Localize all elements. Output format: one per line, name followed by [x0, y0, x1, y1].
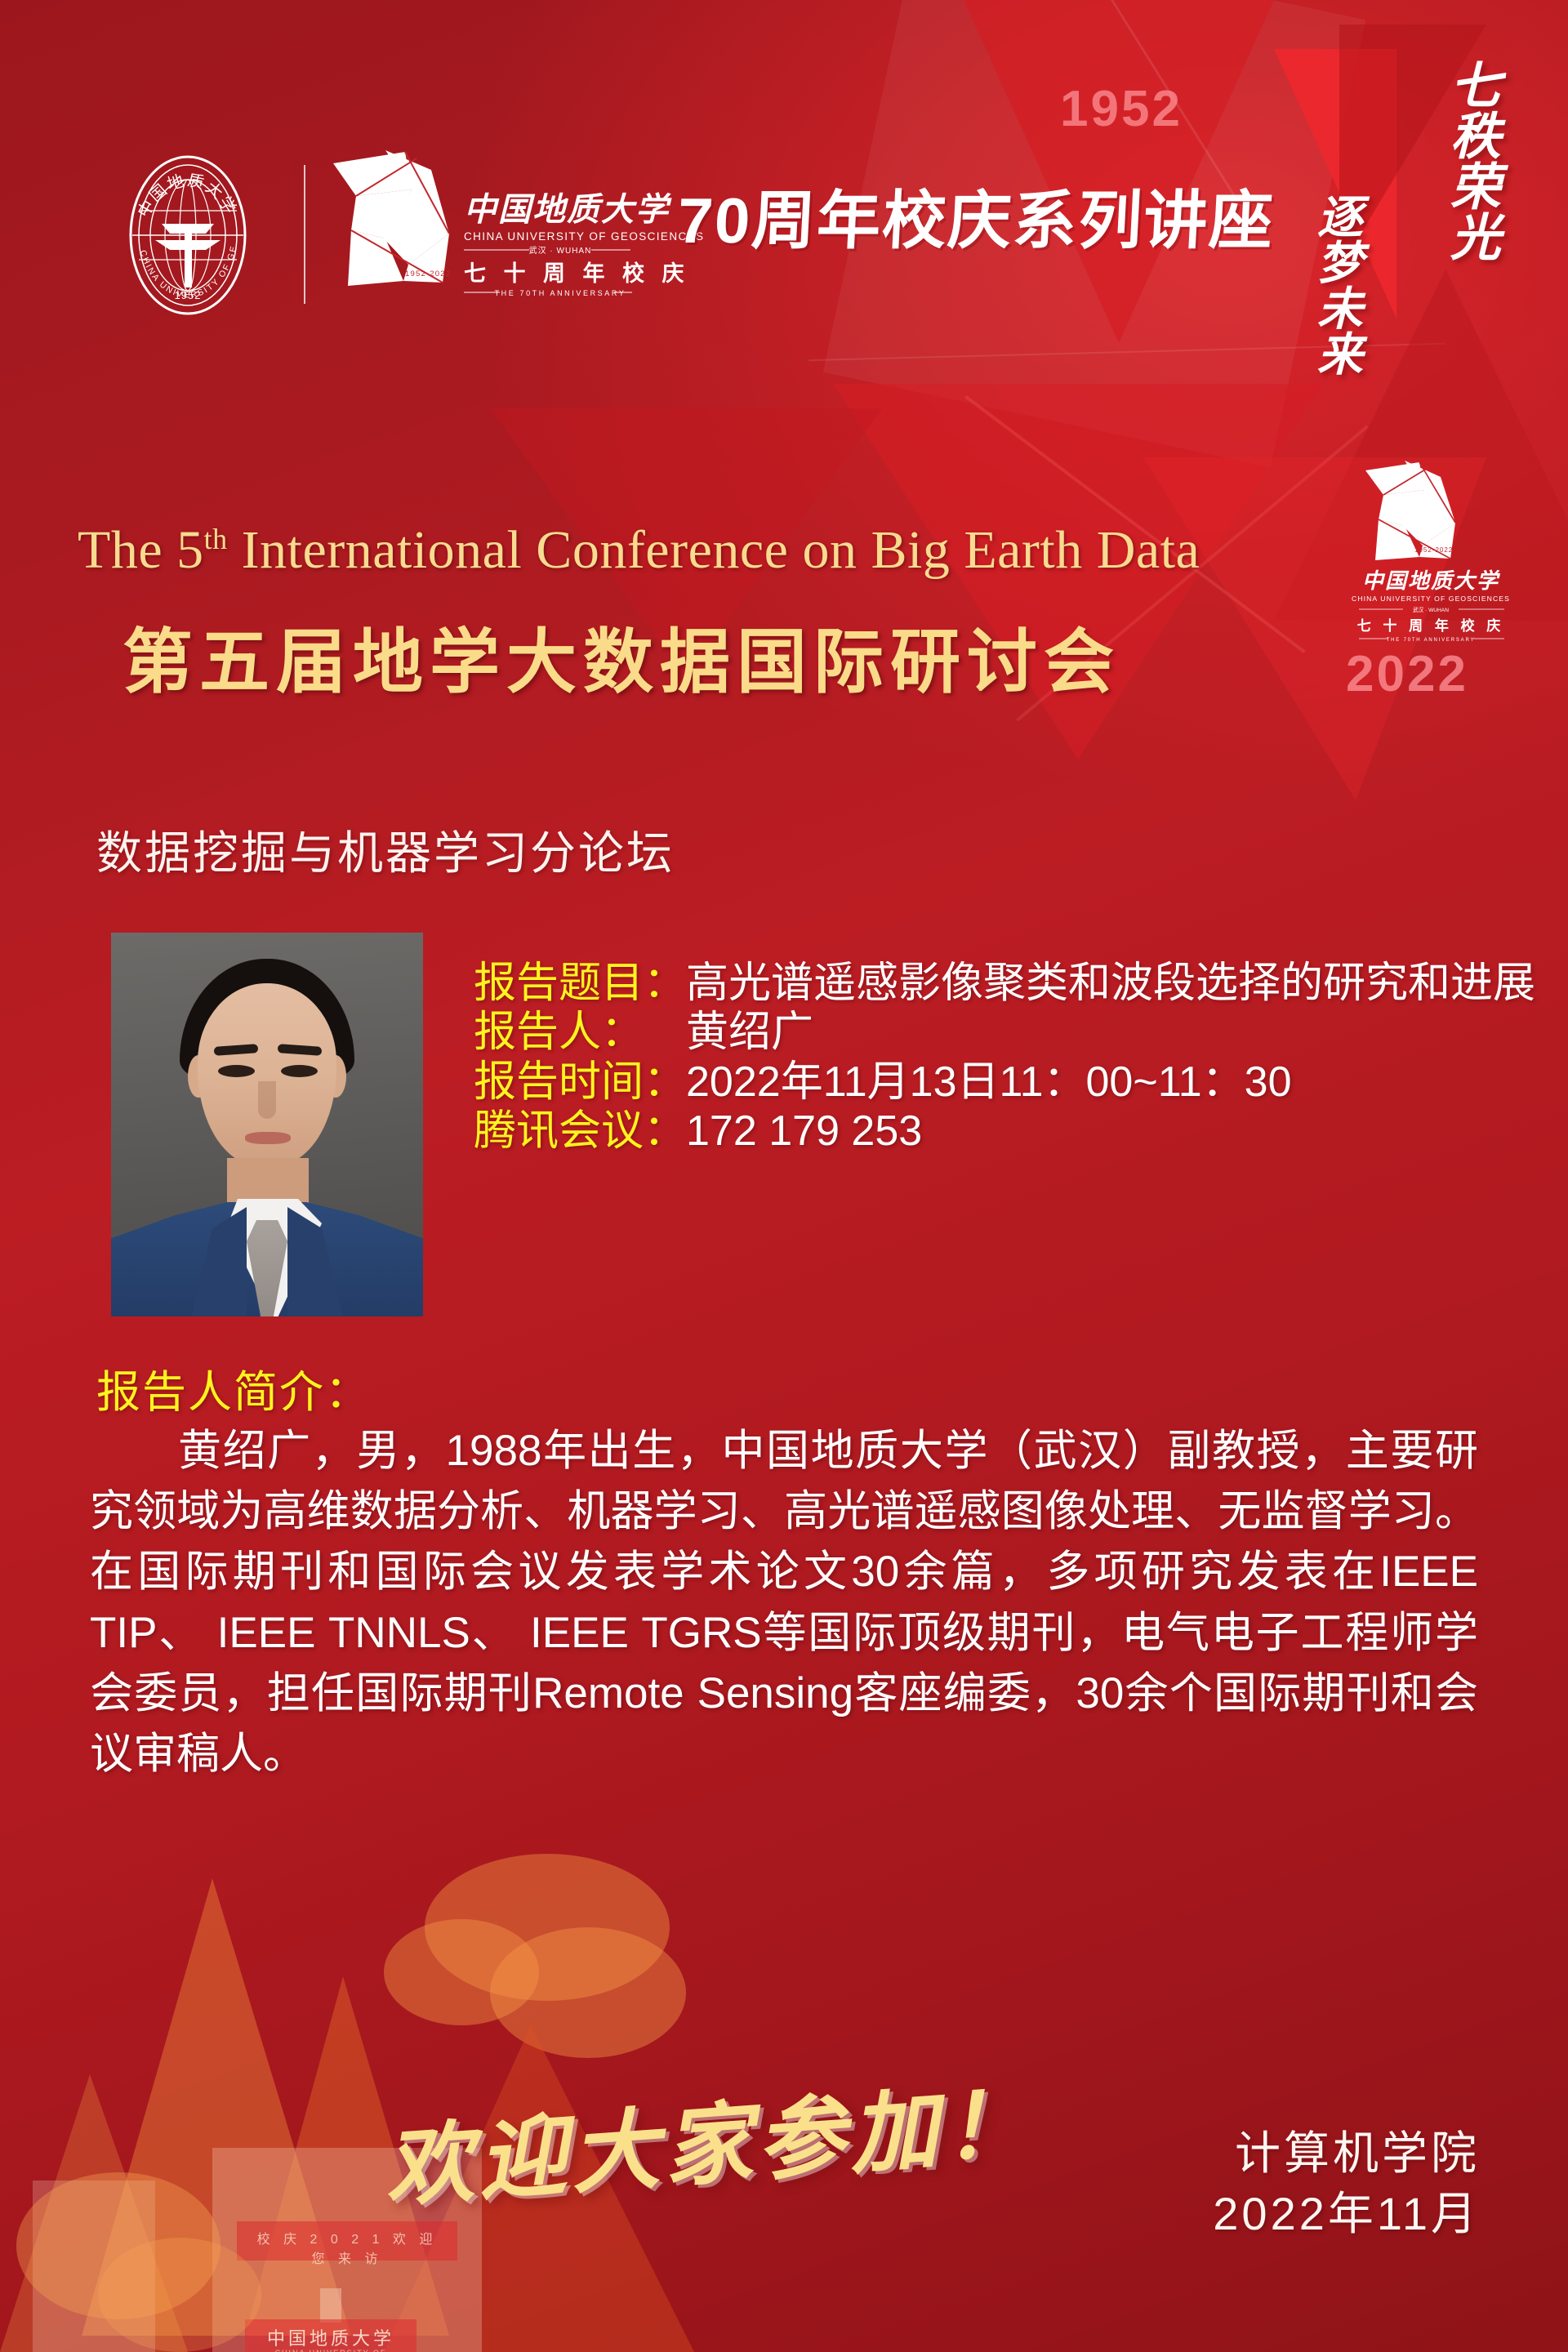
svg-text:1952-2022: 1952-2022: [1414, 546, 1453, 554]
bio-label: 报告人简介：: [96, 1356, 371, 1420]
cloud-motif: [98, 2238, 261, 2352]
svg-text:CHINA UNIVERSITY OF GEOSCIENCE: CHINA UNIVERSITY OF GEOSCIENCES: [464, 230, 704, 243]
svg-text:武汉 · WUHAN: 武汉 · WUHAN: [529, 245, 592, 256]
talk-speaker-label: 报告人：: [474, 1009, 644, 1056]
talk-topic-label: 报告题目：: [474, 960, 686, 1007]
anniversary-badge-icon: 1952-2022 中国地质大学 CHINA UNIVERSITY OF GEO…: [1344, 457, 1517, 645]
conference-title-cn: 第五届地学大数据国际研讨会: [122, 604, 1120, 706]
university-seal-icon: 1952 中国地质大学 CHINA UNIVERSITY OF GEOSCIEN…: [106, 154, 269, 317]
talk-time-value: 2022年11月13日11：00~11：30: [686, 1058, 1292, 1106]
svg-text:武汉 · WUHAN: 武汉 · WUHAN: [1413, 606, 1449, 613]
poster-footer: 计算机学院 2022年11月: [1213, 2123, 1480, 2244]
talk-meeting-label: 腾讯会议：: [474, 1107, 686, 1155]
svg-text:七 十 周 年 校 庆: 七 十 周 年 校 庆: [464, 261, 690, 286]
slogan-line-1: 七秩荣光: [1444, 59, 1498, 261]
talk-time-row: 报告时间：2022年11月13日11：00~11：30: [474, 1058, 1552, 1107]
conference-title-en-ordinal: th: [204, 523, 228, 555]
campus-gate-caption: 校 庆 2 0 2 1 欢 迎 您 来 访: [245, 2228, 449, 2267]
year-2022-label: 2022: [1346, 645, 1468, 703]
footer-organizer: 计算机学院: [1213, 2123, 1480, 2184]
talk-speaker-value: 黄绍广: [686, 1009, 813, 1056]
photo-mouth: [245, 1132, 291, 1144]
talk-topic-value: 高光谱遥感影像聚类和波段选择的研究和进展: [686, 960, 1535, 1007]
svg-text:THE 70TH ANNIVERSARY: THE 70TH ANNIVERSARY: [1387, 638, 1476, 643]
svg-text:七 十 周 年 校 庆: 七 十 周 年 校 庆: [1357, 617, 1505, 634]
slogan-line-2: 逐梦未来: [1312, 193, 1360, 376]
conference-title-en-prefix: The 5: [78, 520, 204, 580]
svg-text:CHINA UNIVERSITY OF GEOSCIENCE: CHINA UNIVERSITY OF GEOSCIENCES: [1352, 595, 1510, 603]
talk-topic-row: 报告题目：高光谱遥感影像聚类和波段选择的研究和进展: [474, 959, 1543, 1008]
talk-meeting-value: 172 179 253: [686, 1107, 922, 1155]
header-divider: [304, 165, 305, 304]
bio-text: 黄绍广，男，1988年出生，中国地质大学（武汉）副教授，主要研究领域为高维数据分…: [90, 1421, 1478, 1784]
talk-speaker-row: 报告人：黄绍广: [474, 1008, 1552, 1057]
forum-subtitle: 数据挖掘与机器学习分论坛: [96, 817, 675, 883]
svg-text:THE 70TH ANNIVERSARY: THE 70TH ANNIVERSARY: [495, 289, 626, 297]
gate-pillar-motif: [320, 2288, 341, 2323]
photo-eye: [218, 1065, 255, 1077]
speaker-photo: [111, 933, 423, 1316]
conference-title-en: The 5th International Conference on Big …: [78, 519, 1200, 581]
svg-text:中国地质大学: 中国地质大学: [464, 190, 672, 229]
campus-plaque-name-en: CHINA UNIVERSITY OF GEOSCIENCES: [245, 2349, 416, 2352]
poster-canvas: 1952 中国地质大学 CHINA UNIVERSITY OF GEOSCIEN…: [0, 0, 1568, 2352]
talk-time-label: 报告时间：: [474, 1058, 686, 1106]
anniversary-wordmark: 1952-2022 中国地质大学 CHINA UNIVERSITY OF GEO…: [327, 142, 637, 322]
photo-eye: [281, 1065, 318, 1077]
footer-date: 2022年11月: [1213, 2184, 1480, 2244]
campus-plaque-name-cn: 中国地质大学: [245, 2324, 416, 2350]
photo-nose: [258, 1081, 276, 1119]
series-title: 70周年校庆系列讲座: [675, 170, 1277, 261]
talk-meeting-row: 腾讯会议：172 179 253: [474, 1107, 1552, 1156]
svg-text:1952-2022: 1952-2022: [405, 269, 451, 278]
conference-title-en-rest: International Conference on Big Earth Da…: [228, 520, 1200, 580]
talk-info-block: 报告题目：高光谱遥感影像聚类和波段选择的研究和进展 报告人：黄绍广 报告时间：2…: [474, 959, 1552, 1156]
year-1952-label: 1952: [1060, 80, 1183, 138]
svg-text:中国地质大学: 中国地质大学: [1362, 569, 1501, 594]
